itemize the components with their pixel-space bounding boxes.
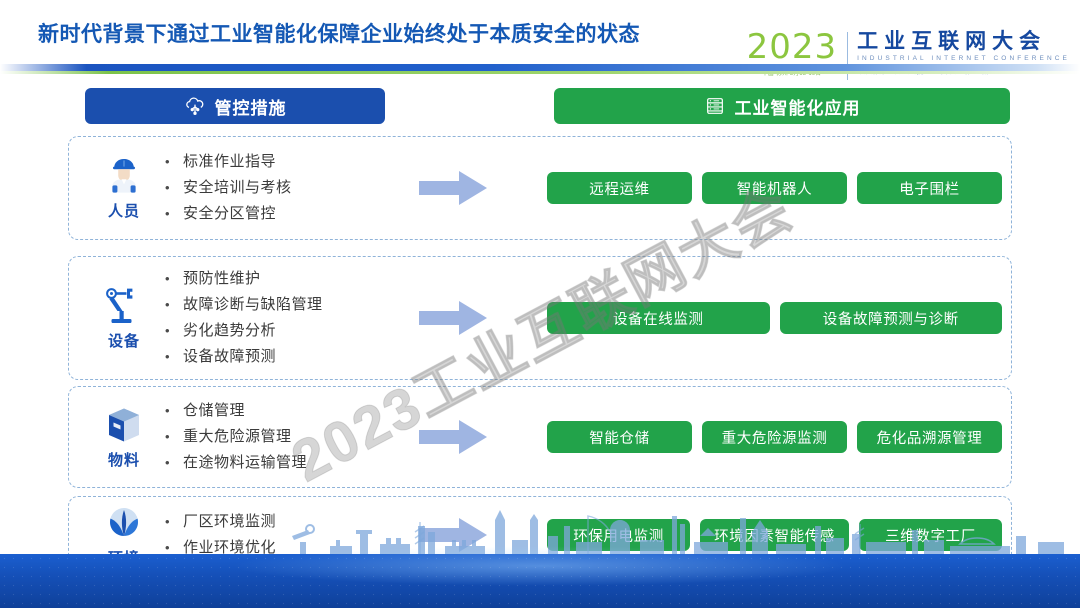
logo-year: 2023 bbox=[747, 30, 838, 64]
measure-label: 预防性维护 bbox=[183, 266, 261, 292]
server-rack-icon bbox=[704, 95, 726, 117]
logo-name-cn: 工业互联网大会 bbox=[857, 30, 1070, 53]
bullet-dot: • bbox=[165, 175, 183, 201]
measure-label: 在途物料运输管理 bbox=[183, 450, 307, 476]
robot-arm-icon bbox=[103, 285, 145, 327]
measure-item: • 故障诊断与缺陷管理 bbox=[165, 292, 323, 318]
right-arrow-icon bbox=[417, 168, 489, 208]
band-dot-pattern bbox=[0, 554, 1080, 608]
column-header-ai-applications[interactable]: 工业智能化应用 bbox=[554, 88, 1010, 124]
application-tag[interactable]: 智能机器人 bbox=[702, 172, 847, 204]
category-row-equipment: 设备 • 预防性维护 • 故障诊断与缺陷管理 • 劣化趋势分析 • 设备故障预测 bbox=[68, 256, 1012, 380]
applications-list-personnel: 远程运维 智能机器人 电子围栏 bbox=[547, 172, 1002, 204]
page-title: 新时代背景下通过工业智能化保障企业始终处于本质安全的状态 bbox=[38, 18, 640, 48]
measure-item: • 安全分区管控 bbox=[165, 201, 292, 227]
measure-label: 重大危险源管理 bbox=[183, 424, 292, 450]
category-row-personnel: 人员 • 标准作业指导 • 安全培训与考核 • 安全分区管控 bbox=[68, 136, 1012, 240]
measure-label: 故障诊断与缺陷管理 bbox=[183, 292, 323, 318]
measure-label: 安全分区管控 bbox=[183, 201, 276, 227]
category-label: 设备 bbox=[108, 330, 140, 351]
column-header-left-label: 管控措施 bbox=[215, 94, 287, 119]
category-label: 人员 bbox=[108, 200, 140, 221]
slide-header: 新时代背景下通过工业智能化保障企业始终处于本质安全的状态 2023 中国·苏州 … bbox=[0, 0, 1080, 82]
application-tag[interactable]: 危化品溯源管理 bbox=[857, 421, 1002, 453]
measure-item: • 设备故障预测 bbox=[165, 344, 323, 370]
bullet-dot: • bbox=[165, 318, 183, 344]
box-package-icon bbox=[104, 404, 144, 446]
application-tag[interactable]: 智能仓储 bbox=[547, 421, 692, 453]
category-block-equipment: 设备 bbox=[91, 285, 157, 351]
measure-item: • 劣化趋势分析 bbox=[165, 318, 323, 344]
measure-item: • 标准作业指导 bbox=[165, 149, 292, 175]
measure-label: 劣化趋势分析 bbox=[183, 318, 276, 344]
slide-canvas: 新时代背景下通过工业智能化保障企业始终处于本质安全的状态 2023 中国·苏州 … bbox=[0, 0, 1080, 608]
bullet-dot: • bbox=[165, 266, 183, 292]
bullet-dot: • bbox=[165, 149, 183, 175]
category-block-personnel: 人员 bbox=[91, 155, 157, 221]
bullet-dot: • bbox=[165, 292, 183, 318]
bottom-blue-band bbox=[0, 554, 1080, 608]
right-arrow-icon bbox=[417, 417, 489, 457]
application-tag[interactable]: 设备在线监测 bbox=[547, 302, 770, 334]
bullet-dot: • bbox=[165, 201, 183, 227]
measures-list-personnel: • 标准作业指导 • 安全培训与考核 • 安全分区管控 bbox=[165, 149, 292, 227]
measures-list-materials: • 仓储管理 • 重大危险源管理 • 在途物料运输管理 bbox=[165, 398, 307, 476]
measures-list-equipment: • 预防性维护 • 故障诊断与缺陷管理 • 劣化趋势分析 • 设备故障预测 bbox=[165, 266, 323, 370]
conference-logo: 2023 中国·苏州 8月18-19日 工业互联网大会 INDUSTRIAL I… bbox=[747, 30, 1070, 82]
column-header-control-measures[interactable]: 管控措施 bbox=[85, 88, 385, 124]
application-tag[interactable]: 设备故障预测与诊断 bbox=[780, 302, 1003, 334]
category-block-materials: 物料 bbox=[91, 404, 157, 470]
bullet-dot: • bbox=[165, 424, 183, 450]
measure-label: 标准作业指导 bbox=[183, 149, 276, 175]
bullet-dot: • bbox=[165, 344, 183, 370]
measure-label: 仓储管理 bbox=[183, 398, 245, 424]
category-row-materials: 物料 • 仓储管理 • 重大危险源管理 • 在途物料运输管理 bbox=[68, 386, 1012, 488]
applications-list-equipment: 设备在线监测 设备故障预测与诊断 bbox=[547, 302, 1002, 334]
cloud-network-icon bbox=[184, 95, 206, 117]
bullet-dot: • bbox=[165, 450, 183, 476]
measure-label: 安全培训与考核 bbox=[183, 175, 292, 201]
measure-item: • 重大危险源管理 bbox=[165, 424, 307, 450]
logo-name-en: INDUSTRIAL INTERNET CONFERENCE bbox=[857, 55, 1070, 62]
header-green-rule bbox=[0, 71, 1080, 74]
measure-item: • 仓储管理 bbox=[165, 398, 307, 424]
worker-helmet-icon bbox=[104, 155, 144, 197]
application-tag[interactable]: 远程运维 bbox=[547, 172, 692, 204]
measure-item: • 预防性维护 bbox=[165, 266, 323, 292]
category-label: 物料 bbox=[108, 449, 140, 470]
application-tag[interactable]: 重大危险源监测 bbox=[702, 421, 847, 453]
bullet-dot: • bbox=[165, 398, 183, 424]
measure-item: • 在途物料运输管理 bbox=[165, 450, 307, 476]
header-blue-rule bbox=[0, 64, 1080, 71]
column-header-right-label: 工业智能化应用 bbox=[735, 94, 861, 119]
measure-item: • 安全培训与考核 bbox=[165, 175, 292, 201]
application-tag[interactable]: 电子围栏 bbox=[857, 172, 1002, 204]
right-arrow-icon bbox=[417, 298, 489, 338]
applications-list-materials: 智能仓储 重大危险源监测 危化品溯源管理 bbox=[547, 421, 1002, 453]
measure-label: 设备故障预测 bbox=[183, 344, 276, 370]
